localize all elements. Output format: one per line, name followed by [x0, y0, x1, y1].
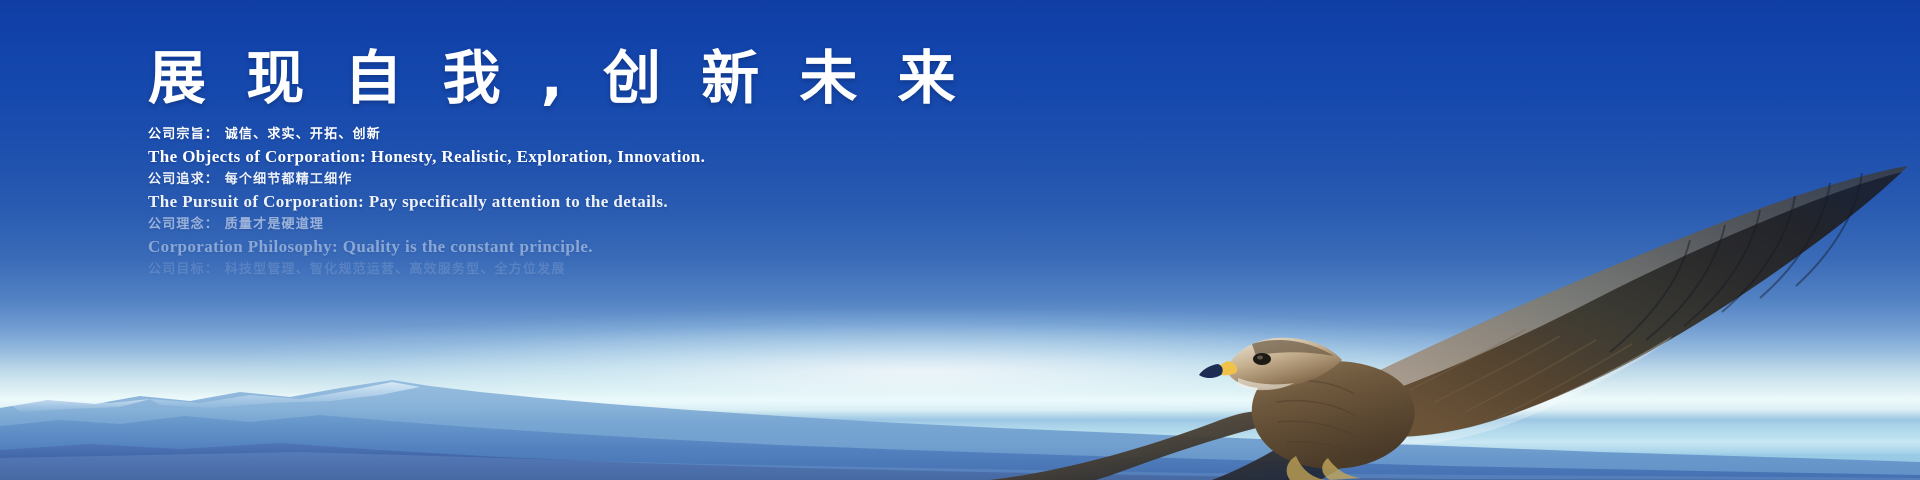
tagline-en-pursuit: The Pursuit of Corporation: Pay specific… — [148, 190, 1128, 214]
tagline-cn-goal: 公司目标： 科技型管理、智化规范运营、高效服务型、全方位发展 — [148, 260, 1128, 280]
tagline-cn-philosophy: 公司理念： 质量才是硬道理 — [148, 215, 1128, 235]
tagline-list: 公司宗旨： 诚信、求实、开拓、创新 The Objects of Corpora… — [148, 125, 1128, 280]
tagline-item: 公司目标： 科技型管理、智化规范运营、高效服务型、全方位发展 — [148, 260, 1128, 280]
tagline-cn-pursuit: 公司追求： 每个细节都精工细作 — [148, 170, 1128, 190]
tagline-item: 公司追求： 每个细节都精工细作 The Pursuit of Corporati… — [148, 170, 1128, 214]
tagline-en-philosophy: Corporation Philosophy: Quality is the c… — [148, 235, 1128, 259]
banner-text-block: 展 现 自 我 , 创 新 未 来 公司宗旨： 诚信、求实、开拓、创新 The … — [148, 46, 1128, 281]
tagline-cn-objects: 公司宗旨： 诚信、求实、开拓、创新 — [148, 125, 1128, 145]
page-title: 展 现 自 我 , 创 新 未 来 — [148, 46, 1128, 111]
tagline-en-objects: The Objects of Corporation: Honesty, Rea… — [148, 145, 1128, 169]
tagline-item: 公司宗旨： 诚信、求实、开拓、创新 The Objects of Corpora… — [148, 125, 1128, 169]
corporate-banner: 展 现 自 我 , 创 新 未 来 公司宗旨： 诚信、求实、开拓、创新 The … — [0, 0, 1920, 480]
tagline-item: 公司理念： 质量才是硬道理 Corporation Philosophy: Qu… — [148, 215, 1128, 259]
